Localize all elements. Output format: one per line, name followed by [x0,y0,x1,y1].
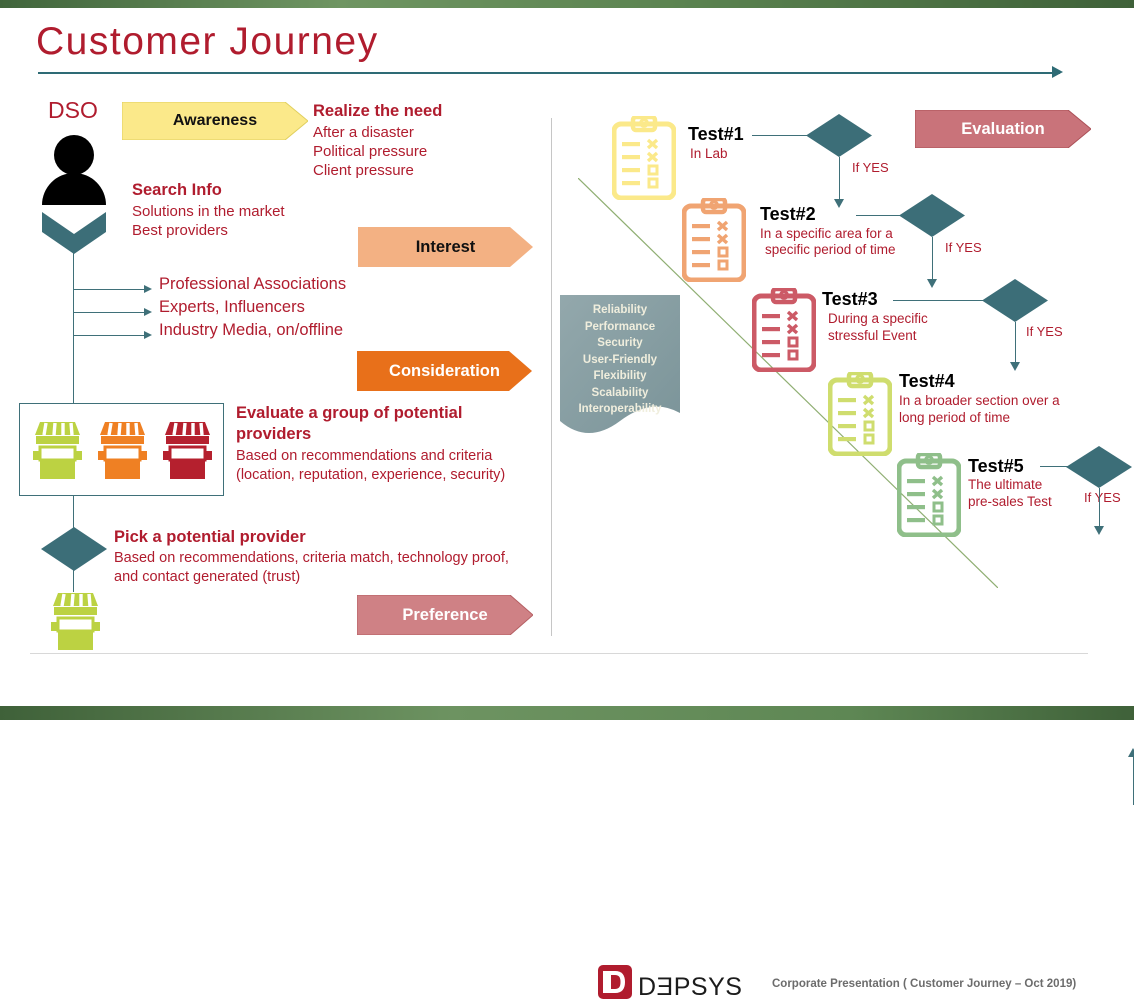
criteria-item-0: Reliability [560,302,680,319]
block-heading-realize: Realize the need [313,102,442,121]
channel-label-1: Experts, Influencers [159,298,305,317]
stage-banner-interest-label: Interest [416,238,476,257]
column-divider [551,118,552,636]
store-icon-orange [97,419,148,481]
top-accent-bar [0,0,1134,8]
decision-diamond-test-5 [1066,446,1132,488]
test-desc-2-0: In a specific area for a [760,226,893,242]
test-desc-5-1: pre-sales Test [968,494,1052,510]
title-arrow-head-icon [1052,66,1063,78]
test-title-1: Test#1 [688,124,744,145]
test-5-to-purchase2-arrow-icon [1094,526,1104,535]
test-5-decision-label: If YES [1084,490,1121,505]
logo-d-glyph-icon [598,965,632,999]
block-line-evaluate-1: (location, reputation, experience, secur… [236,467,505,484]
channel-connector-2 [73,335,145,336]
test-desc-4-0: In a broader section over a [899,393,1060,409]
purchase1-loop-arrow-icon [1128,748,1134,757]
down-chevron-icon [42,212,106,254]
stage-banner-awareness[interactable]: Awareness [122,102,308,140]
stage-banner-interest[interactable]: Interest [358,227,533,267]
stage-banner-consideration-label: Consideration [389,362,500,381]
provider-stem-upper [73,496,74,526]
decision-diamond-pick-provider [41,527,107,571]
footer-divider [30,653,1088,654]
channel-label-2: Industry Media, on/offline [159,321,343,340]
slide-canvas: Customer Journey DSO Awareness Realize t… [0,0,1134,720]
criteria-list: Reliability Performance Security User-Fr… [560,302,680,418]
stage-banner-evaluation-label: Evaluation [961,120,1044,139]
criteria-item-5: Scalability [560,385,680,402]
test-title-5: Test#5 [968,456,1024,477]
decision-diamond-test-1 [806,114,872,157]
block-line-pick-1: and contact generated (trust) [114,569,300,586]
stage-banner-evaluation[interactable]: Evaluation [915,110,1091,148]
title-underline-arrow [38,72,1060,74]
test-5-to-purchase2-line [1099,488,1100,530]
test-desc-3-0: During a specific [828,311,928,327]
clipboard-icon-test-4 [828,372,892,456]
test-2-to-3-line [932,237,933,283]
block-heading-search: Search Info [132,181,222,200]
brand-logo-text: DƎPSYS [638,969,742,1005]
test-3-to-4-arrow-icon [1010,362,1020,371]
criteria-item-4: Flexibility [560,368,680,385]
clipboard-icon-test-1 [612,116,676,200]
footer-note: Corporate Presentation ( Customer Journe… [772,976,1076,993]
test-desc-1-0: In Lab [690,146,728,162]
test-3-decision-label: If YES [1026,324,1063,339]
store-icon-chosen-green [50,590,101,652]
test-3-connector [893,300,983,301]
block-heading-evaluate: Evaluate a group of potential providers [236,403,526,444]
stage-banner-preference-label: Preference [402,606,487,625]
channel-connector-0 [73,289,145,290]
channel-arrow-2-icon [144,331,152,339]
clipboard-icon-test-5 [897,453,961,537]
clipboard-icon-test-2 [682,198,746,282]
test-title-2: Test#2 [760,204,816,225]
channel-label-0: Professional Associations [159,275,346,294]
channel-arrow-0-icon [144,285,152,293]
provider-stem-lower [73,570,74,592]
test-desc-5-0: The ultimate [968,477,1042,493]
channel-connector-1 [73,312,145,313]
test-2-to-3-arrow-icon [927,279,937,288]
test-desc-3-1: stressful Event [828,328,917,344]
criteria-item-1: Performance [560,319,680,336]
block-line-realize-0: After a disaster [313,124,414,142]
block-line-realize-2: Client pressure [313,162,414,180]
stage-banner-consideration[interactable]: Consideration [357,351,532,391]
store-icon-red [162,419,213,481]
decision-diamond-test-3 [982,279,1048,322]
test-3-to-4-line [1015,322,1016,366]
block-heading-pick: Pick a potential provider [114,528,306,547]
test-desc-4-1: long period of time [899,410,1010,426]
test-title-3: Test#3 [822,289,878,310]
test-1-to-2-arrow-icon [834,199,844,208]
clipboard-icon-test-3 [752,288,816,372]
test-desc-2-1: specific period of time [765,242,896,258]
stage-banner-preference[interactable]: Preference [357,595,533,635]
block-line-realize-1: Political pressure [313,143,427,161]
block-line-search-1: Best providers [132,222,228,240]
criteria-item-2: Security [560,335,680,352]
channel-arrow-1-icon [144,308,152,316]
store-icon-green [32,419,83,481]
criteria-item-6: Interoperability [560,401,680,418]
persona-label: DSO [48,97,98,124]
test-1-connector [752,135,807,136]
page-title: Customer Journey [36,20,379,64]
test-1-to-2-line [839,157,840,203]
test-2-connector [856,215,900,216]
criteria-item-3: User-Friendly [560,352,680,369]
decision-diamond-test-2 [899,194,965,237]
bottom-accent-bar [0,706,1134,720]
test-title-4: Test#4 [899,371,955,392]
stage-banner-awareness-label: Awareness [173,112,257,130]
test-1-decision-label: If YES [852,160,889,175]
block-line-evaluate-0: Based on recommendations and criteria [236,448,492,465]
brand-logo-mark [598,965,632,999]
block-line-search-0: Solutions in the market [132,203,285,221]
block-line-pick-0: Based on recommendations, criteria match… [114,550,509,567]
test-2-decision-label: If YES [945,240,982,255]
